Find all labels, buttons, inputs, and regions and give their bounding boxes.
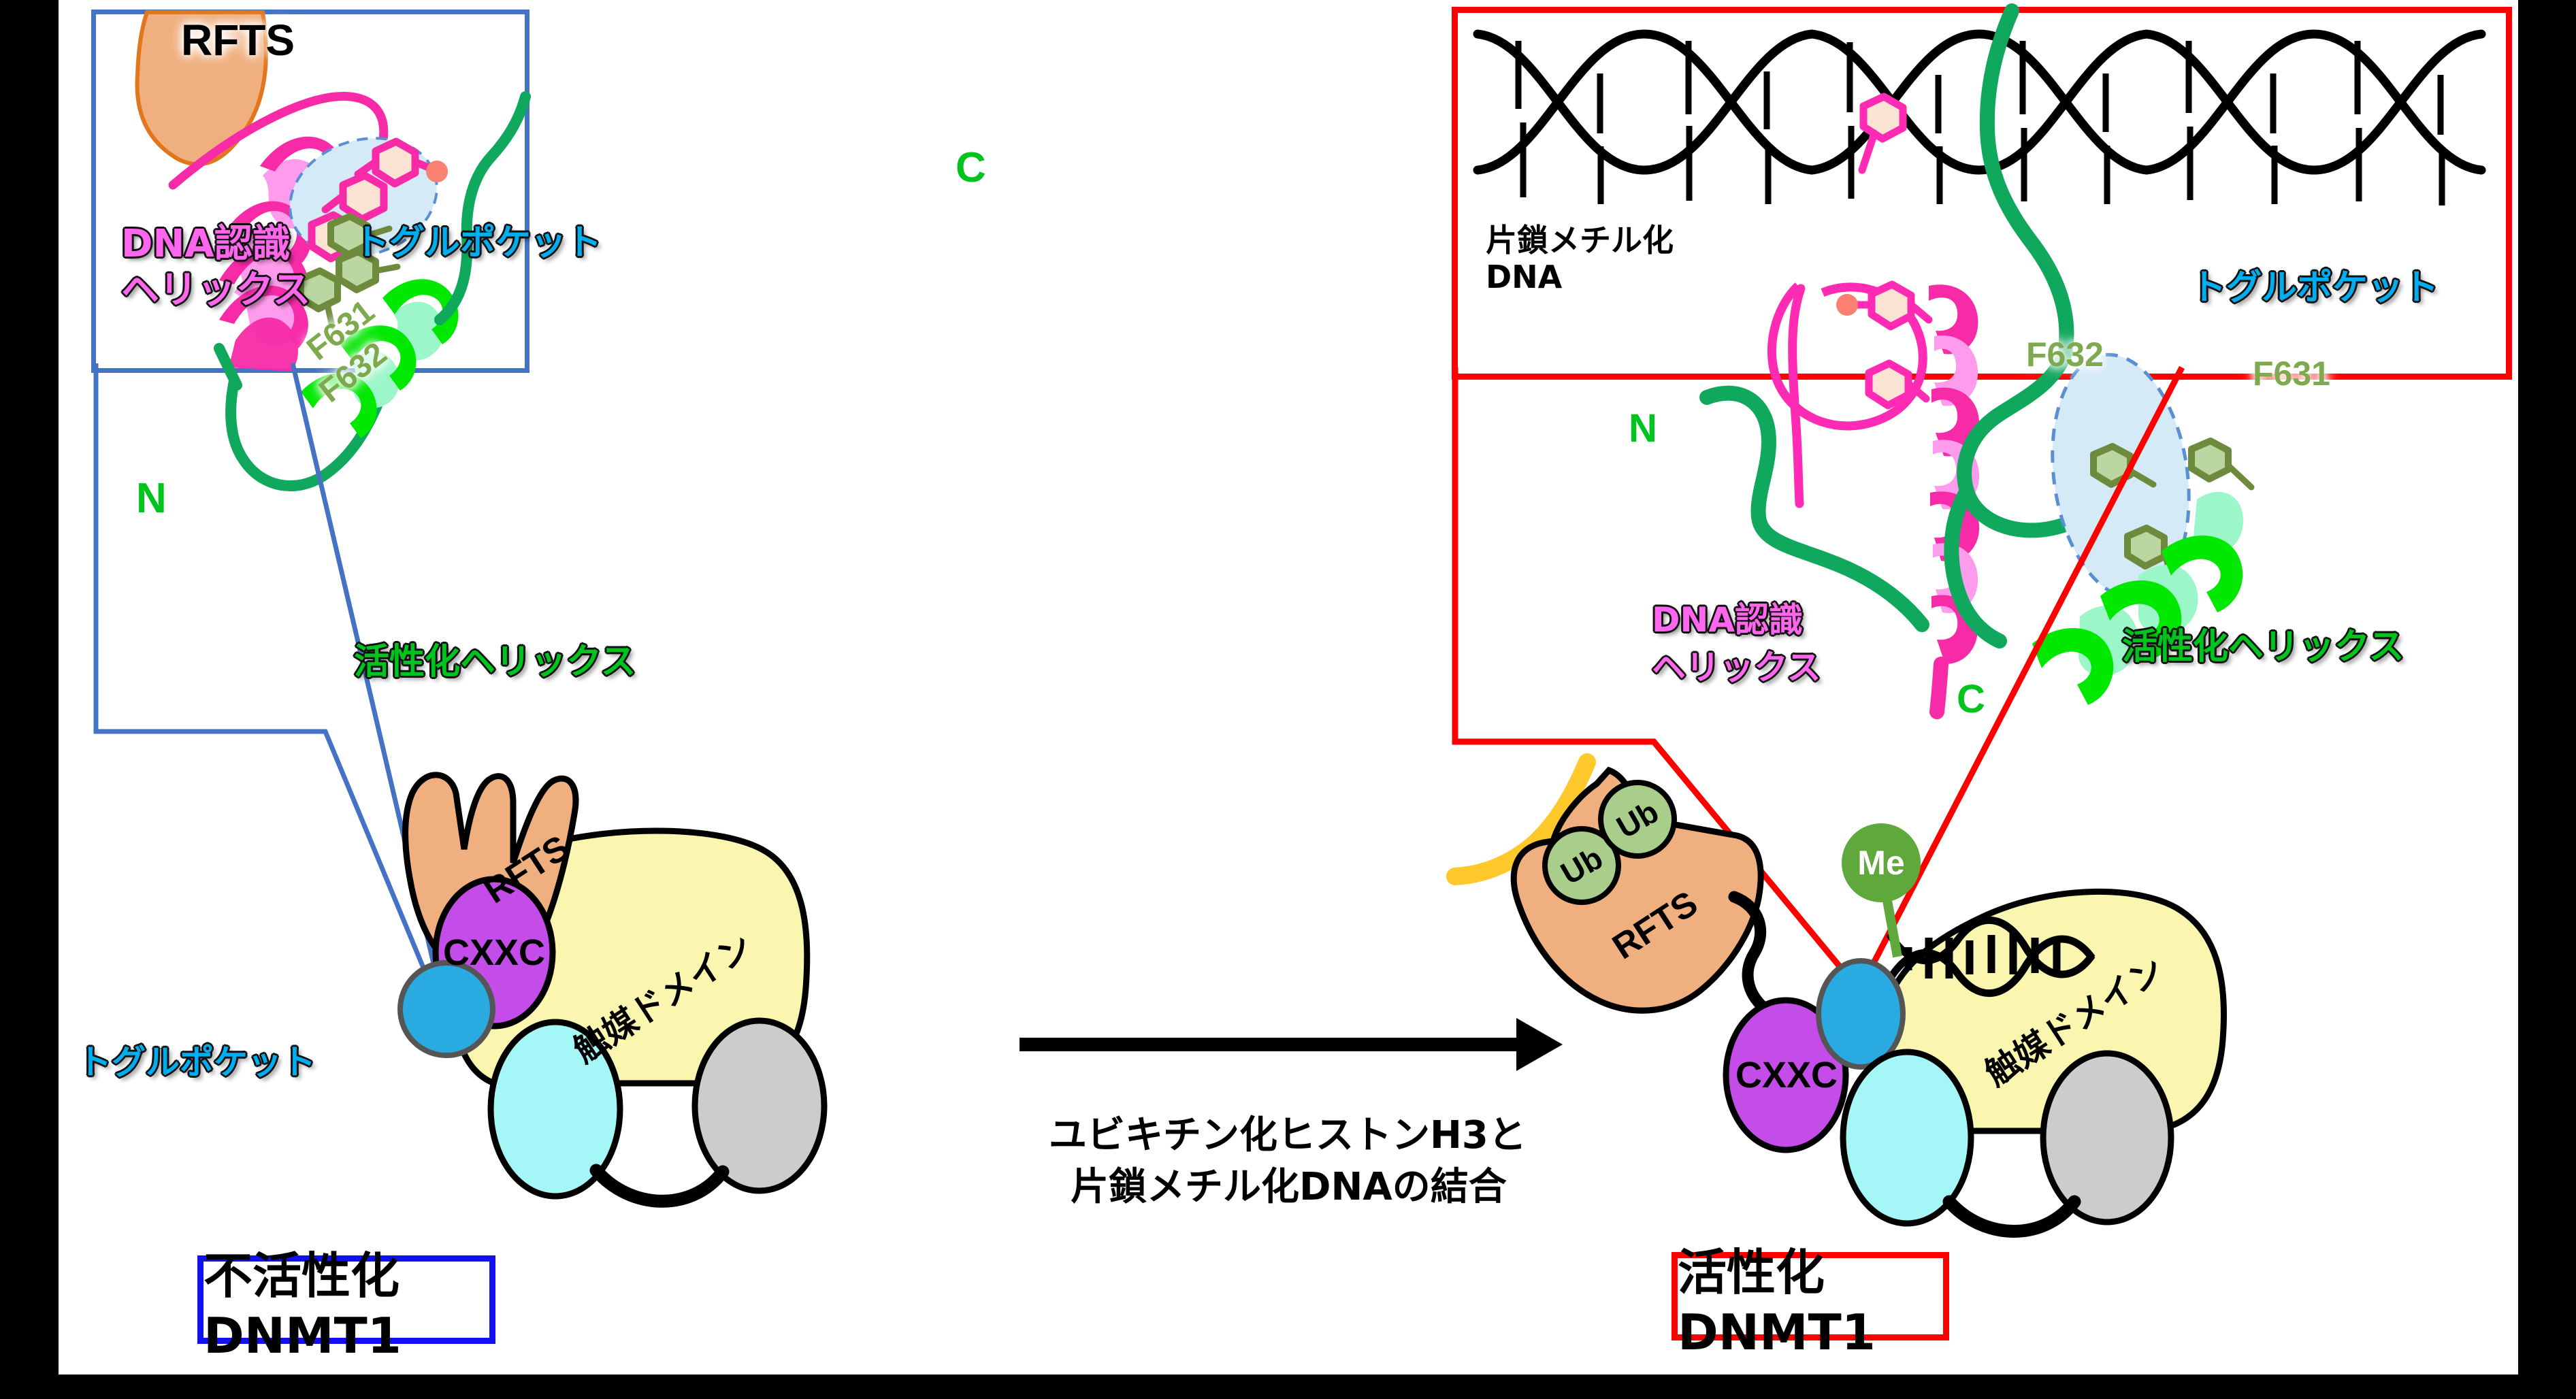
f632-label-right: F632 xyxy=(2026,335,2104,374)
caption-box-active: 活性化DNMT1 xyxy=(1672,1252,1949,1340)
toggle-pocket-label-right: トグルポケット xyxy=(2191,269,2439,307)
dna-recognition-helix-label-right-line1: DNA認識 xyxy=(1652,602,1803,638)
n-terminus-label-left: N xyxy=(136,476,167,521)
toggle-pocket-label-left: トグルポケット xyxy=(354,225,602,262)
methyl-stem-right xyxy=(1887,897,1897,957)
f631-label-right: F631 xyxy=(2253,354,2330,393)
left-callout-lines xyxy=(96,363,444,1007)
caption-inactive-text: 不活性化DNMT1 xyxy=(203,1236,489,1364)
bah2-domain-left xyxy=(695,1021,824,1191)
ubiquitin-2-right xyxy=(1601,783,1674,856)
n-term-strand-left xyxy=(231,381,377,486)
bah-linker-right xyxy=(1949,1202,2074,1232)
toggle-pocket-callout-label-left: トグルポケット xyxy=(78,1044,316,1081)
figure-root: RFTS DNA認識 ヘリックス トグルポケット 活性化ヘリックス F631 F… xyxy=(0,0,2576,1399)
activation-arrow xyxy=(1020,1018,1563,1071)
dna-recognition-helix-label-left-line1: DNA認識 xyxy=(121,225,291,265)
left-dnmt1-cartoon xyxy=(400,775,824,1201)
transition-caption-line2: 片鎖メチル化DNAの結合 xyxy=(1071,1168,1507,1208)
methyl-node-right xyxy=(1842,823,1921,902)
hemimethylated-dna-label-right-line1: 片鎖メチル化 xyxy=(1486,224,1674,257)
activating-helix-label-right: 活性化ヘリックス xyxy=(2122,629,2404,666)
rfts-label-left: RFTS xyxy=(181,18,295,63)
caption-box-inactive: 不活性化DNMT1 xyxy=(197,1255,495,1344)
methyl-dot-right xyxy=(1836,294,1858,316)
transition-caption-line1: ユビキチン化ヒストンH3と xyxy=(1049,1116,1527,1156)
bah2-domain-right xyxy=(2043,1053,2171,1222)
hemimethylated-dna-label-right-line2: DNA xyxy=(1486,261,1562,293)
dna-recognition-helix-label-left-line2: ヘリックス xyxy=(121,271,310,311)
activating-helix-label-left: 活性化ヘリックス xyxy=(354,644,636,681)
bah-linker-left xyxy=(596,1170,723,1201)
dna-recognition-helix-label-right-line2: ヘリックス xyxy=(1652,650,1821,686)
dna-duplex-right xyxy=(1478,34,2481,170)
right-dnmt1-cartoon xyxy=(1455,762,2224,1232)
c-terminus-label-right: C xyxy=(1957,679,1985,721)
figure-canvas: RFTS DNA認識 ヘリックス トグルポケット 活性化ヘリックス F631 F… xyxy=(59,0,2518,1375)
methyl-dot-left xyxy=(426,161,448,182)
n-term-strand-right xyxy=(1707,393,1922,625)
n-terminus-label-right: N xyxy=(1629,408,1657,450)
caption-active-text: 活性化DNMT1 xyxy=(1678,1232,1943,1361)
toggle-pocket-node-left xyxy=(400,963,493,1055)
toggle-pocket-node-right xyxy=(1819,961,1903,1067)
c-terminus-label-left: C xyxy=(956,146,986,190)
